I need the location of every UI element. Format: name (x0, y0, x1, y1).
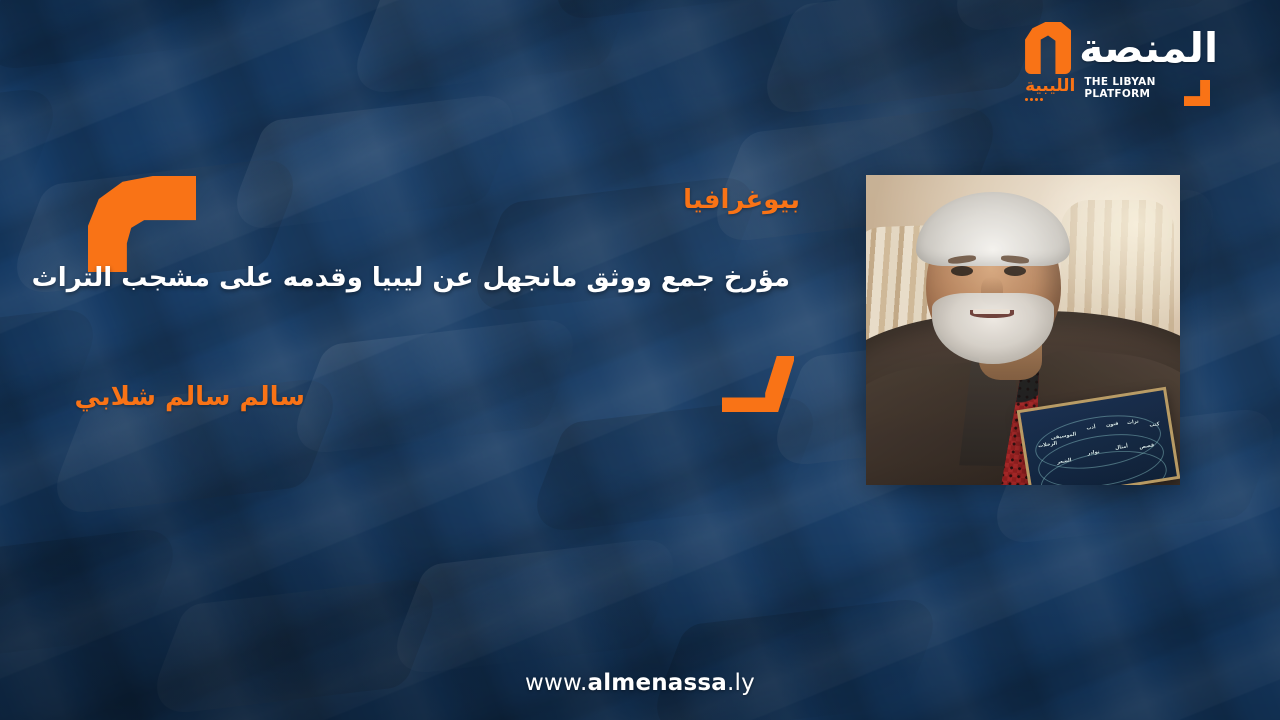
footer-website-url[interactable]: www.almenassa.ly (0, 670, 1280, 696)
logo-english-line2: PLATFORM (1084, 88, 1150, 100)
logo-secondary-row: THE LIBYAN PLATFORM الليبية (1025, 76, 1156, 101)
url-prefix: www. (525, 670, 587, 696)
logo-english-line1: THE LIBYAN (1084, 76, 1155, 88)
url-brand: almenassa (587, 670, 727, 696)
logo-arabic-subtitle: الليبية (1025, 76, 1075, 96)
logo-dots-decoration (1025, 98, 1075, 101)
headline-text: مؤرخ جمع ووثق مانجهل عن ليبيا وقدمه على … (150, 261, 790, 296)
logo-english-text: THE LIBYAN PLATFORM (1084, 76, 1155, 101)
category-kicker: بيوغرافيا (683, 185, 800, 215)
decorative-hook-small-icon (722, 356, 794, 412)
decorative-hook-large-icon (88, 176, 196, 272)
logo-primary-row: المنصة (1025, 22, 1218, 74)
logo-arabic-wordmark: المنصة (1079, 28, 1218, 69)
portrait-photo: كتب تراث فنون أدب الموسيقى الرحلات قصص أ… (866, 175, 1180, 485)
logo-hook-icon (1025, 22, 1071, 74)
portrait-image-inner: كتب تراث فنون أدب الموسيقى الرحلات قصص أ… (866, 175, 1180, 485)
plaque-word: كتب (1149, 421, 1160, 429)
portrait-teeth (973, 309, 1011, 314)
logo-tail-icon (1184, 80, 1210, 106)
brand-logo[interactable]: المنصة THE LIBYAN PLATFORM الليبية (1025, 22, 1218, 101)
poster-canvas: المنصة THE LIBYAN PLATFORM الليبية بيوغر… (0, 0, 1280, 720)
person-name: سالم سالم شلابي (75, 382, 305, 412)
logo-arabic-subtitle-wrap: الليبية (1025, 76, 1075, 101)
url-tld: .ly (727, 670, 755, 696)
